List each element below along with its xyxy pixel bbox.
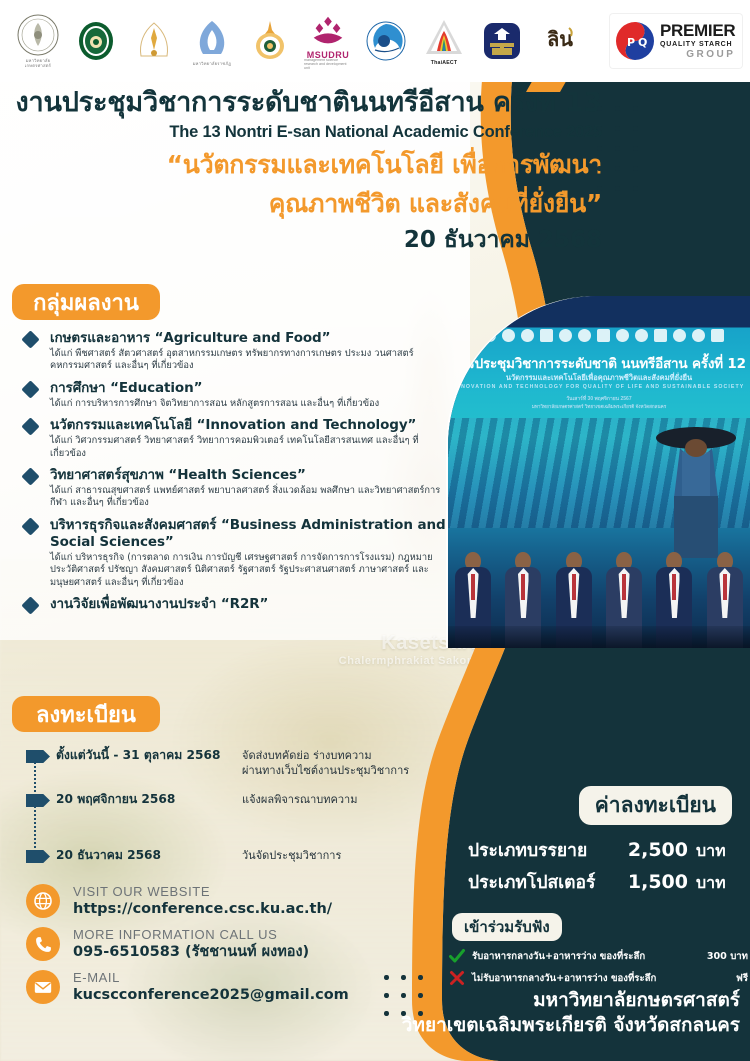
registration-section-pill: ลงทะเบียน	[12, 696, 160, 732]
phone-icon	[26, 927, 60, 961]
contact-phone[interactable]: MORE INFORMATION CALL US 095-6510583 (รั…	[26, 927, 446, 961]
topic-heading: วิทยาศาสตร์สุขภาพ “Health Sciences”	[50, 467, 452, 484]
join-option-text: ไม่รับอาหารกลางวัน+อาหารว่าง ของที่ระลึก	[472, 971, 730, 986]
join-option-with-meal: รับอาหารกลางวัน+อาหารว่าง ของที่ระลึก 30…	[448, 947, 748, 965]
conference-theme-line1: “นวัตกรรมและเทคโนโลยี เพื่อการพัฒนา	[0, 148, 620, 182]
poster-title-block: งานประชุมวิชาการระดับชาตินนทรีอีสาน ครั้…	[0, 86, 620, 255]
fee-unit: บาท	[696, 871, 732, 896]
fee-rows: ประเภทบรรยาย 2,500 บาท ประเภทโปสเตอร์ 1,…	[432, 836, 732, 900]
topic-detail: ได้แก่ พืชศาสตร์ สัตวศาสตร์ อุตสาหกรรมเก…	[50, 348, 452, 373]
topic-item: บริหารธุรกิจและสังคมศาสตร์ “Business Adm…	[22, 517, 452, 589]
timeline-description: จัดส่งบทคัดย่อ ร่างบทความ ผ่านทางเว็บไซต…	[242, 748, 446, 778]
timeline-row: 20 พฤศจิกายน 2568 แจ้งผลพิจารณาบทความ	[26, 792, 446, 812]
diamond-bullet-icon	[21, 330, 39, 348]
topic-item: งานวิจัยเพื่อพัฒนางานประจำ “R2R”	[22, 596, 452, 613]
cross-icon	[448, 969, 466, 987]
premier-line1: PREMIER	[660, 22, 735, 39]
fee-section-title: ค่าลงทะเบียน	[579, 786, 732, 825]
premier-line3: GROUP	[660, 50, 735, 60]
photo-banner-date: วันเสาร์ที่ 30 พฤศจิกายน 2567	[448, 395, 750, 403]
topic-heading: บริหารธุรกิจและสังคมศาสตร์ “Business Adm…	[50, 517, 452, 551]
golden-sheaf-logo	[478, 12, 526, 70]
conference-theme-line2: คุณภาพชีวิต และสังคมที่ยั่งยืน”	[0, 187, 620, 221]
diamond-bullet-icon	[21, 418, 39, 436]
timeline-description: แจ้งผลพิจารณาบทความ	[242, 792, 446, 812]
diamond-bullet-icon	[21, 467, 39, 485]
timeline-description-line1: จัดส่งบทคัดย่อ ร่างบทความ	[242, 748, 446, 763]
topic-item: เกษตรและอาหาร “Agriculture and Food” ได้…	[22, 330, 452, 373]
svg-text:P: P	[627, 36, 635, 49]
fee-amount: 1,500	[624, 871, 688, 893]
photo-banner-title: การประชุมวิชาการระดับชาติ นนทรีอีสาน ครั…	[448, 352, 750, 374]
logo-caption: มหาวิทยาลัยราชภัฏ	[193, 61, 232, 66]
contact-label: MORE INFORMATION CALL US	[73, 927, 309, 943]
conference-title-english: The 13 Nontri E-san National Academic Co…	[0, 121, 620, 143]
dot-grid-top-right	[597, 86, 651, 206]
logo-caption: มหาวิทยาลัยเกษตรศาสตร์	[14, 58, 62, 68]
svg-text:Q: Q	[638, 36, 647, 49]
thai-pagoda-seal-logo	[246, 12, 294, 70]
join-option-price: 300 บาท	[707, 949, 748, 964]
timeline-flag-icon	[26, 750, 50, 763]
envelope-icon	[26, 970, 60, 1004]
timeline-row: 20 ธันวาคม 2568 วันจัดประชุมวิชาการ	[26, 848, 446, 868]
contact-label: VISIT OUR WEBSITE	[73, 884, 332, 900]
thai-aect-logo: ThaiAECT	[420, 12, 468, 70]
join-option-text: รับอาหารกลางวัน+อาหารว่าง ของที่ระลึก	[472, 949, 701, 964]
conference-poster: Kasetsart University Chalermphrakiat Sak…	[0, 0, 750, 1061]
topic-detail: ได้แก่ วิศวกรรมศาสตร์ วิทยาศาสตร์ วิทยาก…	[50, 435, 452, 460]
diamond-bullet-icon	[21, 596, 39, 614]
join-audience-pill: เข้าร่วมรับฟัง	[452, 913, 562, 941]
contact-value[interactable]: kucscconference2025@gmail.com	[73, 986, 349, 1004]
contact-label: E-MAIL	[73, 970, 349, 986]
university-campus: วิทยาเขตเฉลิมพระเกียรติ จังหวัดสกลนคร	[320, 1013, 740, 1038]
conference-date: 20 ธันวาคม 2568	[0, 225, 620, 255]
conference-photo: การประชุมวิชาการระดับชาติ นนทรีอีสาน ครั…	[448, 296, 750, 648]
blue-flame-university-logo: มหาวิทยาลัยราชภัฏ	[188, 12, 236, 70]
groups-section-pill: กลุ่มผลงาน	[12, 284, 160, 320]
topic-detail: ได้แก่ การบริหารการศึกษา จิตวิทยาการสอน …	[50, 398, 452, 410]
fee-label: ประเภทบรรยาย	[432, 836, 616, 864]
fee-unit: บาท	[696, 839, 732, 864]
contact-website[interactable]: VISIT OUR WEBSITE https://conference.csc…	[26, 884, 446, 918]
timeline-description-line2: ผ่านทางเว็บไซต์งานประชุมวิชาการ	[242, 763, 446, 778]
psq-monogram-icon: P Q	[615, 21, 655, 61]
topic-heading: การศึกษา “Education”	[50, 380, 452, 397]
svg-text:ลิน: ลิน	[547, 27, 573, 51]
join-option-list: รับอาหารกลางวัน+อาหารว่าง ของที่ระลึก 30…	[448, 947, 748, 991]
join-option-without-meal: ไม่รับอาหารกลางวัน+อาหารว่าง ของที่ระลึก…	[448, 969, 748, 987]
groups-topic-list: เกษตรและอาหาร “Agriculture and Food” ได้…	[22, 330, 452, 620]
premier-quality-starch-logo: P Q PREMIER QUALITY STARCH GROUP	[610, 14, 742, 68]
photo-banner-logos	[464, 326, 740, 344]
blue-swirl-institute-logo	[362, 12, 410, 70]
topic-detail: ได้แก่ สาธารณสุขศาสตร์ แพทย์ศาสตร์ พยาบา…	[50, 485, 452, 510]
fee-label: ประเภทโปสเตอร์	[432, 868, 616, 896]
contact-value[interactable]: 095-6510583 (รัชชานนท์ ผงทอง)	[73, 943, 309, 961]
university-name: มหาวิทยาลัยกษตรศาสตร์	[320, 988, 740, 1013]
premier-line2: QUALITY STARCH	[660, 41, 735, 48]
globe-icon	[26, 884, 60, 918]
timeline-flag-icon	[26, 850, 50, 863]
topic-item: วิทยาศาสตร์สุขภาพ “Health Sciences” ได้แ…	[22, 467, 452, 510]
diamond-bullet-icon	[21, 380, 39, 398]
diamond-bullet-icon	[21, 517, 39, 535]
logo-caption-secondary: management science research and developm…	[304, 58, 352, 70]
host-university: มหาวิทยาลัยกษตรศาสตร์ วิทยาเขตเฉลิมพระเก…	[320, 988, 740, 1038]
timeline-date: 20 ธันวาคม 2568	[56, 848, 242, 868]
msudru-logo: MSUDRU management science research and d…	[304, 12, 352, 70]
logo-caption: ThaiAECT	[431, 61, 457, 66]
registration-timeline: ตั้งแต่วันนี้ - 31 ตุลาคม 2568 จัดส่งบทค…	[26, 748, 446, 868]
kasetsart-university-logo: มหาวิทยาลัยเกษตรศาสตร์	[14, 12, 62, 70]
topic-item: นวัตกรรมและเทคโนโลยี “Innovation and Tec…	[22, 417, 452, 460]
fee-row: ประเภทโปสเตอร์ 1,500 บาท	[432, 868, 732, 896]
photo-banner-subtitle-en: INNOVATION AND TECHNOLOGY FOR QUALITY OF…	[448, 384, 750, 390]
timeline-date: ตั้งแต่วันนี้ - 31 ตุลาคม 2568	[56, 748, 242, 778]
check-icon	[448, 947, 466, 965]
join-option-price: ฟรี	[736, 971, 748, 986]
timeline-description: วันจัดประชุมวิชาการ	[242, 848, 446, 868]
fee-row: ประเภทบรรยาย 2,500 บาท	[432, 836, 732, 864]
contact-value[interactable]: https://conference.csc.ku.ac.th/	[73, 900, 332, 918]
photo-stage-floor	[448, 626, 750, 648]
topic-item: การศึกษา “Education” ได้แก่ การบริหารการ…	[22, 380, 452, 410]
topic-heading: งานวิจัยเพื่อพัฒนางานประจำ “R2R”	[50, 596, 452, 613]
lin-sweet-creation-logo: ลิน	[536, 12, 584, 70]
photo-banner-subtitle: นวัตกรรมและเทคโนโลยีเพื่อคุณภาพชีวิตและส…	[448, 372, 750, 384]
topic-heading: เกษตรและอาหาร “Agriculture and Food”	[50, 330, 452, 347]
timeline-flag-icon	[26, 794, 50, 807]
university-green-seal-logo	[72, 12, 120, 70]
royal-crest-logo	[130, 12, 178, 70]
topic-heading: นวัตกรรมและเทคโนโลยี “Innovation and Tec…	[50, 417, 452, 434]
timeline-row: ตั้งแต่วันนี้ - 31 ตุลาคม 2568 จัดส่งบทค…	[26, 748, 446, 778]
fee-amount: 2,500	[624, 839, 688, 861]
timeline-date: 20 พฤศจิกายน 2568	[56, 792, 242, 812]
topic-detail: ได้แก่ บริหารธุรกิจ (การตลาด การเงิน การ…	[50, 552, 452, 589]
